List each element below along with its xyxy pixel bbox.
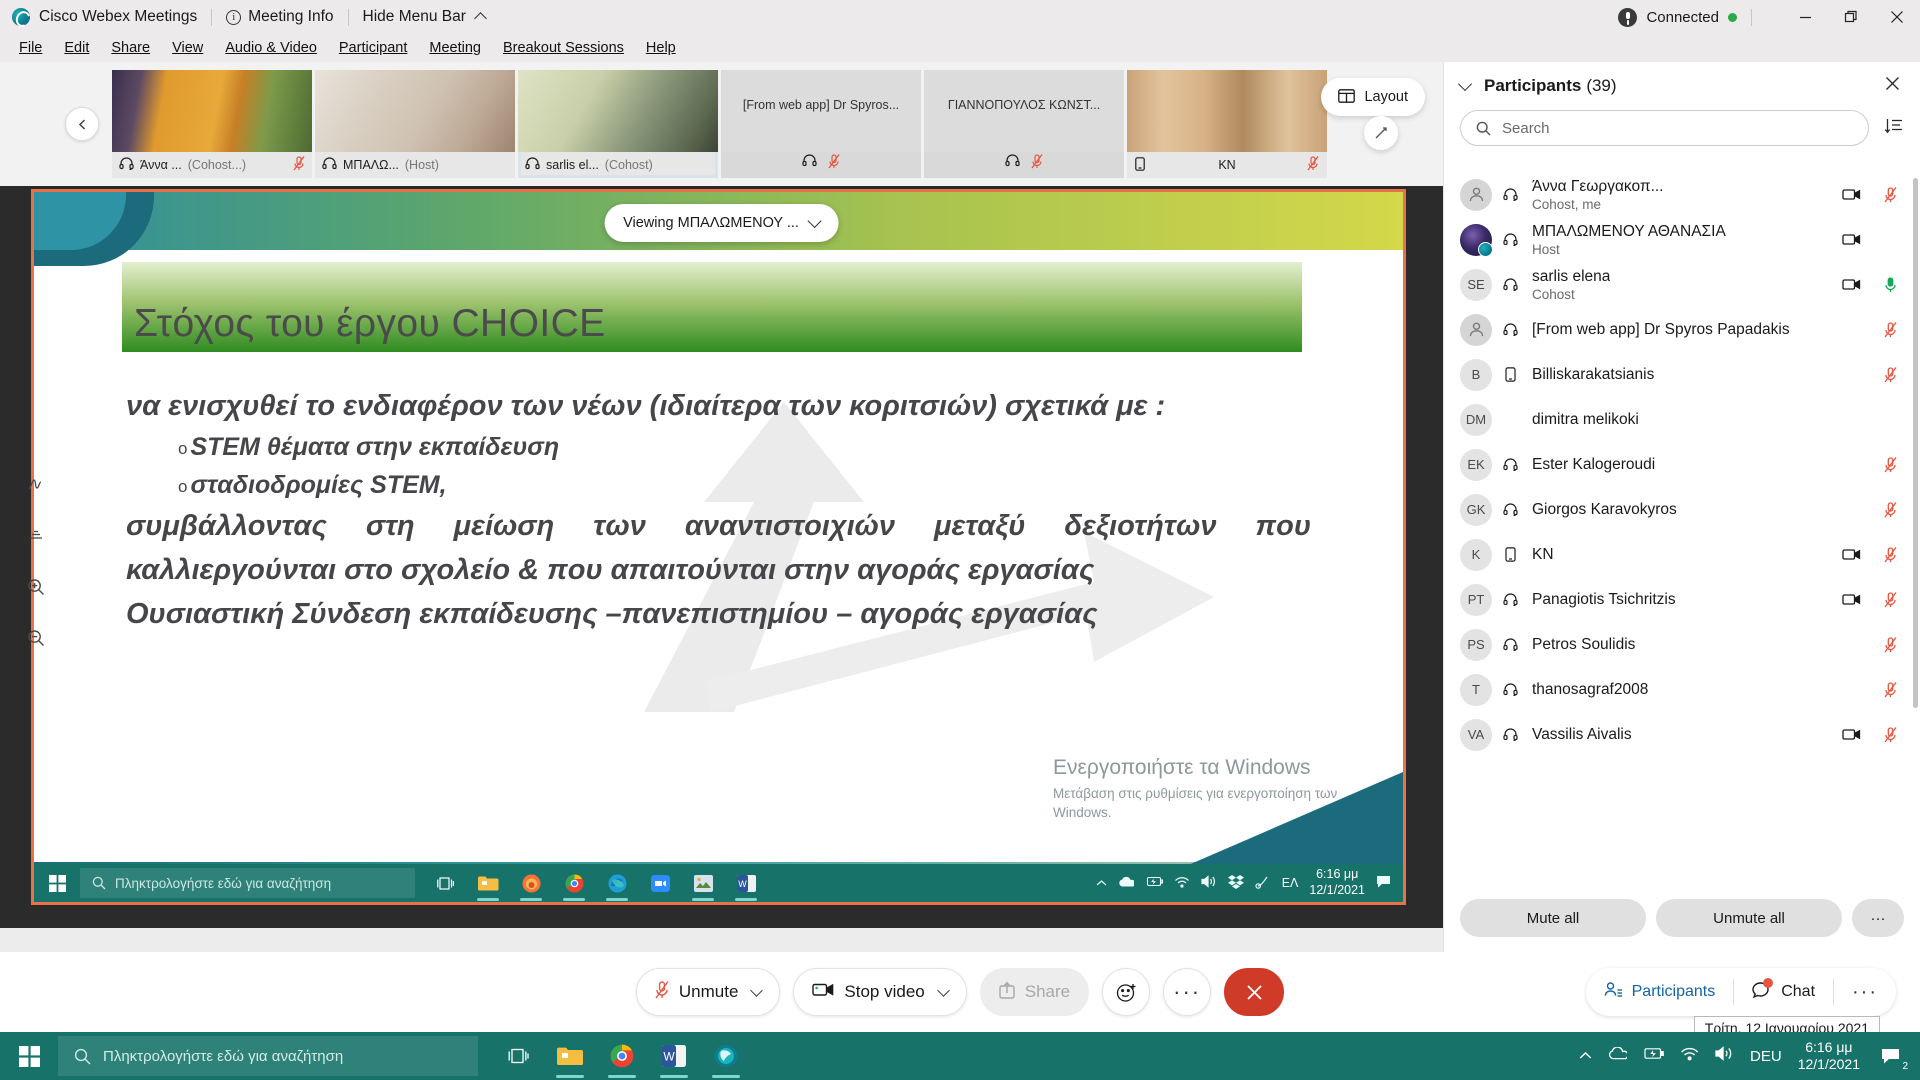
wifi-icon[interactable]	[1174, 876, 1190, 891]
participant-role: Host	[1532, 242, 1726, 257]
info-icon: i	[226, 10, 241, 25]
word-icon[interactable]: W	[726, 864, 766, 902]
participant-name: thanosagraf2008	[1532, 681, 1648, 699]
shared-clock-date: 12/1/2021	[1309, 883, 1365, 899]
avatar-initials: B	[1472, 367, 1481, 382]
shared-start-button[interactable]	[34, 864, 80, 902]
participant-name-block: thanosagraf2008	[1532, 681, 1648, 699]
menu-breakout-sessions-label: Breakout Sessions	[503, 40, 624, 56]
video-on-icon	[812, 982, 834, 1002]
avatar	[1460, 314, 1492, 346]
participant-role: Cohost, me	[1532, 197, 1664, 212]
avatar-initials: PS	[1467, 637, 1484, 652]
chat-button-label: Chat	[1781, 983, 1815, 1001]
participant-row[interactable]: T thanosagraf2008	[1444, 667, 1920, 712]
headset-icon	[322, 157, 337, 173]
menu-view-label: View	[172, 40, 203, 56]
taskbar-search-input[interactable]: Πληκτρολογήστε εδώ για αναζήτηση	[58, 1036, 478, 1076]
participant-status	[1842, 277, 1900, 293]
participants-button-label: Participants	[1632, 983, 1716, 1001]
filmstrip-prev-button[interactable]	[65, 107, 99, 141]
presentation-slide: Στόχος του έργου CHOICE να ενισχυθεί το …	[34, 192, 1403, 902]
participant-status	[1842, 367, 1900, 383]
participant-name: [From web app] Dr Spyros Papadakis	[1532, 321, 1790, 339]
thumbnail-role: (Host)	[405, 158, 439, 172]
connection-icon	[1618, 8, 1637, 27]
video-on-icon[interactable]	[1842, 728, 1861, 741]
webex-logo-icon	[12, 8, 30, 26]
action-center-icon[interactable]	[1376, 874, 1393, 892]
mic-muted-icon[interactable]	[1881, 682, 1900, 698]
mute-all-label: Mute all	[1527, 910, 1580, 927]
zoom-in-button[interactable]	[27, 578, 45, 601]
participant-name: Petros Soulidis	[1532, 636, 1635, 654]
webex-tray-icon[interactable]	[1255, 875, 1271, 892]
avatar-initials: K	[1472, 547, 1481, 562]
firefox-icon[interactable]	[511, 864, 551, 902]
battery-icon[interactable]	[1145, 876, 1163, 890]
menu-help-label: Help	[646, 40, 676, 56]
mic-muted-icon[interactable]	[1881, 457, 1900, 473]
participants-panel-header: Participants (39)	[1444, 62, 1920, 110]
thumbnail-anna[interactable]: Άννα ... (Cohost...)	[112, 70, 312, 178]
avatar-initials: VA	[1468, 727, 1484, 742]
shared-screen-frame: Στόχος του έργου CHOICE να ενισχυθεί το …	[31, 189, 1406, 905]
battery-icon[interactable]	[1643, 1047, 1664, 1065]
panel-more-button[interactable]: ···	[1852, 899, 1904, 937]
meeting-info-label: Meeting Info	[248, 8, 333, 26]
mic-muted-icon[interactable]	[1881, 367, 1900, 383]
clock-time: 6:16 μμ	[1798, 1039, 1860, 1057]
participant-name: Ester Kalogeroudi	[1532, 456, 1655, 474]
window-controls	[1782, 0, 1920, 34]
stop-video-button[interactable]: Stop video	[793, 968, 966, 1016]
edge-icon[interactable]	[597, 864, 637, 902]
viewing-indicator[interactable]: Viewing ΜΠΑΛΩΜΕΝΟΥ ...	[604, 204, 839, 242]
search-placeholder: Search	[1502, 120, 1550, 137]
notification-count: 2	[1902, 1061, 1908, 1072]
avatar	[1460, 224, 1492, 256]
chat-toggle-button[interactable]: Chat	[1734, 968, 1833, 1016]
menu-file[interactable]: File	[8, 37, 53, 59]
avatar-initials: PT	[1468, 592, 1485, 607]
mic-muted-icon	[1031, 154, 1043, 174]
video-on-icon[interactable]	[1842, 188, 1861, 201]
participant-status	[1842, 322, 1900, 338]
avatar-initials: SE	[1467, 277, 1484, 292]
shared-content-stage: Στόχος του έργου CHOICE να ενισχυθεί το …	[0, 186, 1443, 928]
menu-meeting-label: Meeting	[429, 40, 481, 56]
participant-name: ΜΠΑΛΩΜΕΝΟΥ ΑΘΑΝΑΣΙΑ	[1532, 223, 1726, 241]
participant-row[interactable]: K KN	[1444, 532, 1920, 577]
onedrive-icon[interactable]	[1118, 876, 1134, 890]
avatar-initials: T	[1472, 682, 1480, 697]
share-icon	[999, 981, 1015, 1004]
pointer-tool-button[interactable]	[27, 476, 45, 499]
avatar-initials: GK	[1467, 502, 1486, 517]
participants-scrollbar[interactable]	[1913, 178, 1918, 708]
divider	[211, 9, 212, 26]
chevron-down-icon[interactable]	[751, 984, 764, 997]
thumbnail-name: ΜΠΑΛΩ...	[343, 158, 399, 172]
layout-icon	[1338, 88, 1355, 107]
participant-name: KN	[1532, 546, 1554, 564]
participant-name-block: KN	[1532, 546, 1554, 564]
participant-name-block: Άννα Γεωργακοπ... Cohost, me	[1532, 178, 1664, 212]
participants-icon	[1604, 981, 1623, 1003]
panel-more-options-button[interactable]: ···	[1834, 968, 1896, 1016]
action-center-button[interactable]: 2	[1876, 1041, 1906, 1071]
webex-meeting-window: Cisco Webex Meetings i Meeting Info Hide…	[0, 0, 1920, 1080]
participant-status	[1842, 502, 1900, 518]
video-feed	[518, 70, 718, 152]
participants-toggle-button[interactable]: Participants	[1586, 968, 1734, 1016]
wifi-icon[interactable]	[1680, 1047, 1699, 1066]
participant-name: dimitra melikoki	[1532, 411, 1639, 429]
bullet-icon: o	[178, 439, 187, 458]
taskbar-search-placeholder: Πληκτρολογήστε εδώ για αναζήτηση	[103, 1048, 343, 1065]
mic-muted-icon[interactable]	[1881, 592, 1900, 608]
participant-row[interactable]: VA Vassilis Aivalis	[1444, 712, 1920, 757]
search-icon	[1476, 121, 1491, 136]
thumbnail-giannopoulos[interactable]: ΓΙΑΝΝΟΠΟΥΛΟΣ ΚΩΝΣΤ...	[924, 70, 1124, 178]
avatar: PT	[1460, 584, 1492, 616]
slide-bullet-2-row: oσταδιοδρομίες STEM,	[178, 466, 1311, 504]
participant-name: Billiskarakatsianis	[1532, 366, 1654, 384]
tray-language[interactable]: ΕΛ	[1282, 876, 1299, 890]
mic-muted-icon[interactable]	[1881, 727, 1900, 743]
participant-status	[1842, 637, 1900, 653]
participant-row[interactable]: GK Giorgos Karavokyros	[1444, 487, 1920, 532]
search-input[interactable]: Search	[1460, 110, 1869, 146]
file-explorer-icon[interactable]	[544, 1032, 596, 1080]
unmute-all-button[interactable]: Unmute all	[1656, 899, 1842, 937]
shared-search-input[interactable]: Πληκτρολογήστε εδώ για αναζήτηση	[80, 868, 415, 898]
task-view-icon[interactable]	[425, 864, 465, 902]
menu-share[interactable]: Share	[100, 37, 161, 59]
slide-bullet-1: STEM θέματα στην εκπαίδευση	[190, 433, 559, 461]
slide-title-banner: Στόχος του έργου CHOICE	[122, 262, 1302, 352]
thumbnail-role: (Cohost)	[605, 158, 653, 172]
thumbnail-name: sarlis el...	[546, 158, 599, 172]
hide-menu-bar-label: Hide Menu Bar	[363, 8, 466, 26]
video-on-icon[interactable]	[1842, 233, 1861, 246]
participant-status	[1842, 682, 1900, 698]
mic-muted-icon[interactable]	[1881, 322, 1900, 338]
slide-paragraph-3: Ουσιαστική Σύνδεση εκπαίδευσης –πανεπιστ…	[126, 592, 1311, 636]
headset-icon	[1499, 503, 1521, 516]
participant-status	[1842, 547, 1900, 563]
headset-icon	[1499, 188, 1521, 201]
chevron-down-icon	[808, 214, 822, 228]
menu-edit[interactable]: Edit	[53, 37, 100, 59]
thumbnail-status-icons	[721, 154, 921, 174]
participant-row[interactable]: Άννα Γεωργακοπ... Cohost, me	[1444, 172, 1920, 217]
menu-edit-label: Edit	[64, 40, 89, 56]
connection-status[interactable]: Connected	[1618, 8, 1737, 27]
meeting-info-button[interactable]: i Meeting Info	[226, 8, 333, 26]
video-on-icon[interactable]	[1842, 593, 1861, 606]
mic-muted-icon[interactable]	[1881, 637, 1900, 653]
shared-taskbar-icons: W	[425, 864, 766, 902]
search-icon	[74, 1048, 91, 1065]
task-view-icon[interactable]	[492, 1032, 544, 1080]
activation-body: Μετάβαση στις ρυθμίσεις για ενεργοποίηση…	[1053, 784, 1353, 822]
unmute-button[interactable]: Unmute	[636, 968, 781, 1016]
svg-text:W: W	[663, 1050, 675, 1064]
search-icon	[92, 876, 106, 890]
avatar: SE	[1460, 269, 1492, 301]
slide-bullet-2: σταδιοδρομίες STEM,	[190, 471, 446, 499]
participant-status	[1842, 187, 1900, 203]
mic-active-icon[interactable]	[1881, 277, 1900, 293]
thumbnail-role: (Cohost...)	[188, 158, 246, 172]
taskbar-app-icons: W	[492, 1032, 752, 1080]
participant-status	[1842, 592, 1900, 608]
connection-status-label: Connected	[1646, 9, 1719, 26]
divider	[1751, 9, 1752, 26]
divider	[348, 9, 349, 26]
onedrive-icon[interactable]	[1608, 1047, 1627, 1065]
avatar-initials: DM	[1466, 412, 1486, 427]
participant-name-block: ΜΠΑΛΩΜΕΝΟΥ ΑΘΑΝΑΣΙΑ Host	[1532, 223, 1726, 257]
shared-windows-taskbar: Πληκτρολογήστε εδώ για αναζήτηση	[34, 864, 1403, 902]
thumbnail-dr-spyros[interactable]: [From web app] Dr Spyros...	[721, 70, 921, 178]
participant-role: Cohost	[1532, 287, 1610, 302]
avatar: K	[1460, 539, 1492, 571]
headset-icon	[802, 154, 817, 174]
thumbnail-name: KN	[1218, 158, 1235, 172]
participants-panel-title: Participants	[1484, 76, 1581, 96]
participant-row[interactable]: EK Ester Kalogeroudi	[1444, 442, 1920, 487]
share-button: Share	[980, 968, 1089, 1016]
video-feed	[112, 70, 312, 152]
status-dot-icon	[1728, 13, 1737, 22]
headset-icon	[1499, 233, 1521, 246]
layout-secondary-button[interactable]	[1364, 116, 1398, 150]
mute-all-button[interactable]: Mute all	[1460, 899, 1646, 937]
participant-name-block: Panagiotis Tsichritzis	[1532, 591, 1676, 609]
thumbnail-label-bar: KN	[1127, 152, 1327, 178]
thumbnail-label-bar: Άννα ... (Cohost...)	[112, 152, 312, 178]
volume-icon[interactable]	[1201, 875, 1217, 891]
participant-row[interactable]: PS Petros Soulidis	[1444, 622, 1920, 667]
participant-row[interactable]: [From web app] Dr Spyros Papadakis	[1444, 307, 1920, 352]
windows-activation-watermark: Ενεργοποιήστε τα Windows Μετάβαση στις ρ…	[1053, 756, 1353, 822]
thumbnail-name: Άννα ...	[140, 158, 182, 172]
unmute-label: Unmute	[679, 982, 739, 1002]
sort-button[interactable]	[1881, 114, 1906, 143]
phone-icon	[1135, 157, 1145, 174]
shared-system-tray: ΕΛ 6:16 μμ 12/1/2021	[1096, 867, 1403, 898]
participant-row[interactable]: B Billiskarakatsianis	[1444, 352, 1920, 397]
slide-body: να ενισχυθεί το ενδιαφέρον των νέων (ιδι…	[126, 384, 1311, 636]
avatar: PS	[1460, 629, 1492, 661]
headset-icon	[1499, 728, 1521, 741]
headset-icon	[1499, 638, 1521, 651]
participant-status	[1842, 457, 1900, 473]
minimize-button[interactable]	[1782, 0, 1828, 34]
participant-name-block: [From web app] Dr Spyros Papadakis	[1532, 321, 1790, 339]
menu-meeting[interactable]: Meeting	[418, 37, 492, 59]
chevron-down-icon[interactable]	[937, 984, 950, 997]
thumbnail-balomenou[interactable]: ΜΠΑΛΩ... (Host)	[315, 70, 515, 178]
avatar: B	[1460, 359, 1492, 391]
thumbnail-kn[interactable]: KN	[1127, 70, 1327, 178]
annotation-toolbar	[22, 476, 50, 652]
title-bar-left: Cisco Webex Meetings i Meeting Info Hide…	[0, 8, 485, 26]
windows-taskbar: Πληκτρολογήστε εδώ για αναζήτηση W	[0, 1032, 1920, 1080]
mic-muted-icon[interactable]	[1881, 187, 1900, 203]
participant-name-block: Giorgos Karavokyros	[1532, 501, 1677, 519]
participant-name: Vassilis Aivalis	[1532, 726, 1632, 744]
unmute-all-label: Unmute all	[1713, 910, 1785, 927]
restore-button[interactable]	[1828, 0, 1874, 34]
mic-muted-icon	[655, 981, 669, 1004]
participant-name-block: sarlis elena Cohost	[1532, 268, 1610, 302]
volume-icon[interactable]	[1715, 1046, 1734, 1066]
control-buttons: Unmute Stop video Share ···	[636, 968, 1284, 1016]
slide-paragraph-1: να ενισχυθεί το ενδιαφέρον των νέων (ιδι…	[126, 384, 1311, 428]
hide-menu-bar-button[interactable]: Hide Menu Bar	[363, 8, 485, 26]
headset-icon	[1499, 458, 1521, 471]
participant-name: Panagiotis Tsichritzis	[1532, 591, 1676, 609]
close-panel-button[interactable]	[1881, 72, 1904, 100]
participant-row[interactable]: PT Panagiotis Tsichritzis	[1444, 577, 1920, 622]
dropbox-icon[interactable]	[1228, 875, 1244, 892]
shared-search-placeholder: Πληκτρολογήστε εδώ για αναζήτηση	[115, 876, 331, 891]
thumbnail-list: Άννα ... (Cohost...) ΜΠΑΛΩ... (Host)	[112, 70, 1327, 178]
person-icon	[1468, 186, 1485, 203]
reactions-button[interactable]	[1102, 968, 1150, 1016]
webex-taskbar-icon[interactable]	[700, 1032, 752, 1080]
shared-clock-time: 6:16 μμ	[1309, 867, 1365, 883]
fit-tool-button[interactable]	[27, 527, 45, 550]
menu-participant[interactable]: Participant	[328, 37, 419, 59]
layout-button[interactable]: Layout	[1321, 78, 1425, 116]
system-tray: DEU 6:16 μμ 12/1/2021 2	[1579, 1039, 1920, 1074]
mic-muted-icon	[828, 154, 840, 174]
share-label: Share	[1025, 982, 1070, 1002]
menu-participant-label: Participant	[339, 40, 408, 56]
menu-audio-video-label: Audio & Video	[225, 40, 317, 56]
word-icon[interactable]: W	[648, 1032, 700, 1080]
file-explorer-icon[interactable]	[468, 864, 508, 902]
participant-name-block: dimitra melikoki	[1532, 411, 1639, 429]
video-filmstrip: Άννα ... (Cohost...) ΜΠΑΛΩ... (Host)	[0, 62, 1443, 186]
mic-muted-icon	[293, 156, 305, 174]
thumbnail-label-bar: sarlis el... (Cohost)	[518, 152, 718, 178]
panel-more-label: ···	[1871, 910, 1886, 927]
thumbnail-status-icons	[924, 154, 1124, 174]
svg-text:W: W	[738, 879, 747, 889]
headset-icon	[525, 157, 540, 173]
viewing-label: Viewing ΜΠΑΛΩΜΕΝΟΥ ...	[623, 215, 799, 231]
chrome-icon[interactable]	[596, 1032, 648, 1080]
headset-icon	[1499, 278, 1521, 291]
menu-bar: File Edit Share View Audio & Video Parti…	[0, 34, 1920, 62]
participant-name: Άννα Γεωργακοπ...	[1532, 178, 1664, 196]
participants-count: (39)	[1586, 76, 1616, 96]
avatar: DM	[1460, 404, 1492, 436]
participant-name: sarlis elena	[1532, 268, 1610, 286]
shared-clock[interactable]: 6:16 μμ 12/1/2021	[1309, 867, 1365, 898]
more-options-button[interactable]: ···	[1163, 968, 1211, 1016]
headset-icon	[1005, 154, 1020, 174]
avatar: T	[1460, 674, 1492, 706]
headset-icon	[1499, 593, 1521, 606]
participants-list[interactable]: Άννα Γεωργακοπ... Cohost, me	[1444, 172, 1920, 884]
avatar	[1460, 179, 1492, 211]
avatar-initials: EK	[1467, 457, 1484, 472]
title-bar-right: Connected	[1618, 0, 1920, 34]
phone-icon	[1499, 367, 1521, 382]
slide-bullet-1-row: oSTEM θέματα στην εκπαίδευση	[178, 428, 1311, 466]
thumbnail-name: [From web app] Dr Spyros...	[721, 98, 921, 112]
menu-share-label: Share	[111, 40, 150, 56]
video-feed	[1127, 70, 1327, 152]
participant-row[interactable]: SE sarlis elena Cohost	[1444, 262, 1920, 307]
tray-language[interactable]: DEU	[1750, 1048, 1782, 1065]
menu-audio-video[interactable]: Audio & Video	[214, 37, 328, 59]
participant-name-block: Petros Soulidis	[1532, 636, 1635, 654]
phone-icon	[1499, 547, 1521, 562]
video-on-icon[interactable]	[1842, 548, 1861, 561]
chevron-up-icon	[474, 12, 487, 25]
title-bar: Cisco Webex Meetings i Meeting Info Hide…	[0, 0, 1920, 34]
menu-help[interactable]: Help	[635, 37, 687, 59]
mic-muted-icon[interactable]	[1881, 502, 1900, 518]
participants-panel-footer: Mute all Unmute all ···	[1444, 884, 1920, 952]
activation-heading: Ενεργοποιήστε τα Windows	[1053, 756, 1353, 780]
headset-icon	[119, 157, 134, 173]
tray-expand-icon[interactable]	[1096, 876, 1107, 890]
photos-icon[interactable]	[683, 864, 723, 902]
person-icon	[1468, 321, 1485, 338]
zoom-out-button[interactable]	[27, 629, 45, 652]
participant-name-block: Billiskarakatsianis	[1532, 366, 1654, 384]
zoom-icon[interactable]	[640, 864, 680, 902]
menu-file-label: File	[19, 40, 42, 56]
participant-status	[1842, 233, 1900, 246]
collapse-chevron-icon[interactable]	[1458, 77, 1472, 91]
participant-name-block: Vassilis Aivalis	[1532, 726, 1632, 744]
avatar: GK	[1460, 494, 1492, 526]
mic-muted-icon[interactable]	[1881, 547, 1900, 563]
taskbar-clock[interactable]: 6:16 μμ 12/1/2021	[1798, 1039, 1860, 1074]
headset-icon	[1499, 683, 1521, 696]
leave-meeting-button[interactable]	[1224, 968, 1284, 1016]
thumbnail-label-bar: ΜΠΑΛΩ... (Host)	[315, 152, 515, 178]
video-on-icon[interactable]	[1842, 278, 1861, 291]
menu-view[interactable]: View	[161, 37, 214, 59]
participant-name-block: Ester Kalogeroudi	[1532, 456, 1655, 474]
start-button[interactable]	[0, 1032, 58, 1080]
participants-search-row: Search	[1444, 110, 1920, 146]
chrome-icon[interactable]	[554, 864, 594, 902]
participant-row[interactable]: DM dimitra melikoki	[1444, 397, 1920, 442]
tray-expand-icon[interactable]	[1579, 1047, 1592, 1065]
participants-panel: Participants (39) Search	[1443, 62, 1920, 952]
menu-breakout-sessions[interactable]: Breakout Sessions	[492, 37, 635, 59]
thumbnail-sarlis-elena[interactable]: sarlis el... (Cohost)	[518, 70, 718, 178]
layout-label: Layout	[1364, 89, 1408, 105]
slide-paragraph-2: συμβάλλοντας στη μείωση των αναντιστοιχι…	[126, 504, 1311, 592]
participant-row[interactable]: ΜΠΑΛΩΜΕΝΟΥ ΑΘΑΝΑΣΙΑ Host	[1444, 217, 1920, 262]
clock-date: 12/1/2021	[1798, 1056, 1860, 1074]
participant-name: Giorgos Karavokyros	[1532, 501, 1677, 519]
close-button[interactable]	[1874, 0, 1920, 34]
